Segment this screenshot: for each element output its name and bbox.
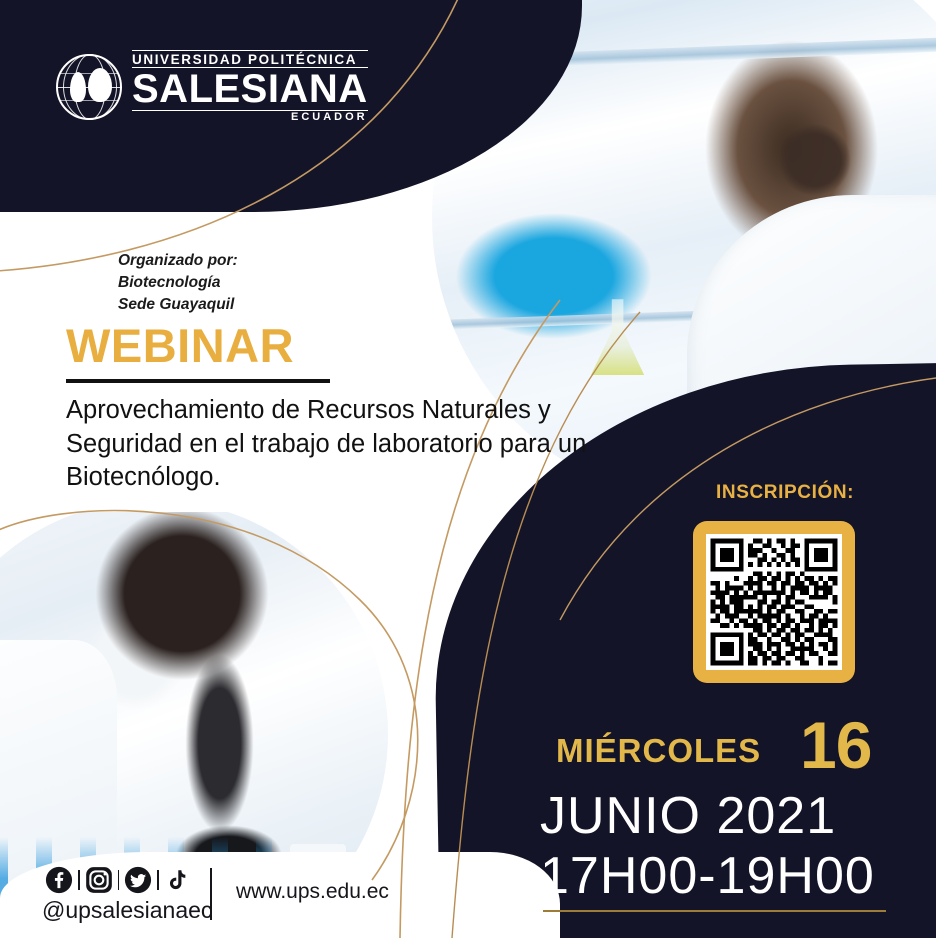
date-time-range: 17H00-19H00 <box>540 850 875 902</box>
university-logo: UNIVERSIDAD POLITÉCNICA SALESIANA ECUADO… <box>56 50 368 123</box>
instagram-icon[interactable] <box>85 866 113 894</box>
social-separator-1 <box>78 870 80 890</box>
facebook-icon[interactable] <box>45 866 73 894</box>
social-handle[interactable]: @upsalesianaec <box>42 897 212 924</box>
erlenmeyer-flask-shape <box>589 299 647 375</box>
date-underline-rule <box>543 910 886 912</box>
white-backdrop-left-lower <box>0 460 60 520</box>
social-separator-3 <box>157 870 159 890</box>
globe-figure-right <box>88 68 112 102</box>
globe-figure-left <box>70 72 86 102</box>
qr-code-frame[interactable] <box>693 521 855 683</box>
title-divider-rule <box>66 379 330 383</box>
event-type-heading: WEBINAR <box>66 318 294 373</box>
social-separator-2 <box>118 870 120 890</box>
website-url[interactable]: www.ups.edu.ec <box>236 880 389 904</box>
globe-latitude-line-lower <box>60 100 118 101</box>
globe-latitude-line-upper <box>60 73 118 74</box>
webinar-title: Aprovechamiento de Recursos Naturales y … <box>66 394 606 495</box>
footer-divider <box>210 868 212 920</box>
qr-code-icon[interactable] <box>706 534 842 670</box>
globe-logo-icon <box>56 54 122 120</box>
date-weekday: MIÉRCOLES <box>556 734 761 767</box>
poster-canvas: UNIVERSIDAD POLITÉCNICA SALESIANA ECUADO… <box>0 0 936 938</box>
globe-equator-line <box>56 87 122 88</box>
organizer-block: Organizado por: Biotecnología Sede Guaya… <box>118 250 238 316</box>
logo-line-universidad: UNIVERSIDAD POLITÉCNICA <box>132 50 368 68</box>
date-day-number: 16 <box>800 712 871 778</box>
twitter-icon[interactable] <box>124 866 152 894</box>
logo-line-salesiana: SALESIANA <box>132 69 368 109</box>
tiktok-icon[interactable] <box>164 866 190 894</box>
organizer-line-3: Sede Guayaquil <box>118 294 238 316</box>
organizer-line-1: Organizado por: <box>118 250 238 272</box>
logo-line-ecuador: ECUADOR <box>132 110 368 123</box>
date-month-year: JUNIO 2021 <box>540 790 836 842</box>
organizer-line-2: Biotecnología <box>118 272 238 294</box>
registration-label: INSCRIPCIÓN: <box>716 482 854 504</box>
social-icons-row <box>45 866 190 894</box>
logo-wordmark: UNIVERSIDAD POLITÉCNICA SALESIANA ECUADO… <box>132 50 368 123</box>
